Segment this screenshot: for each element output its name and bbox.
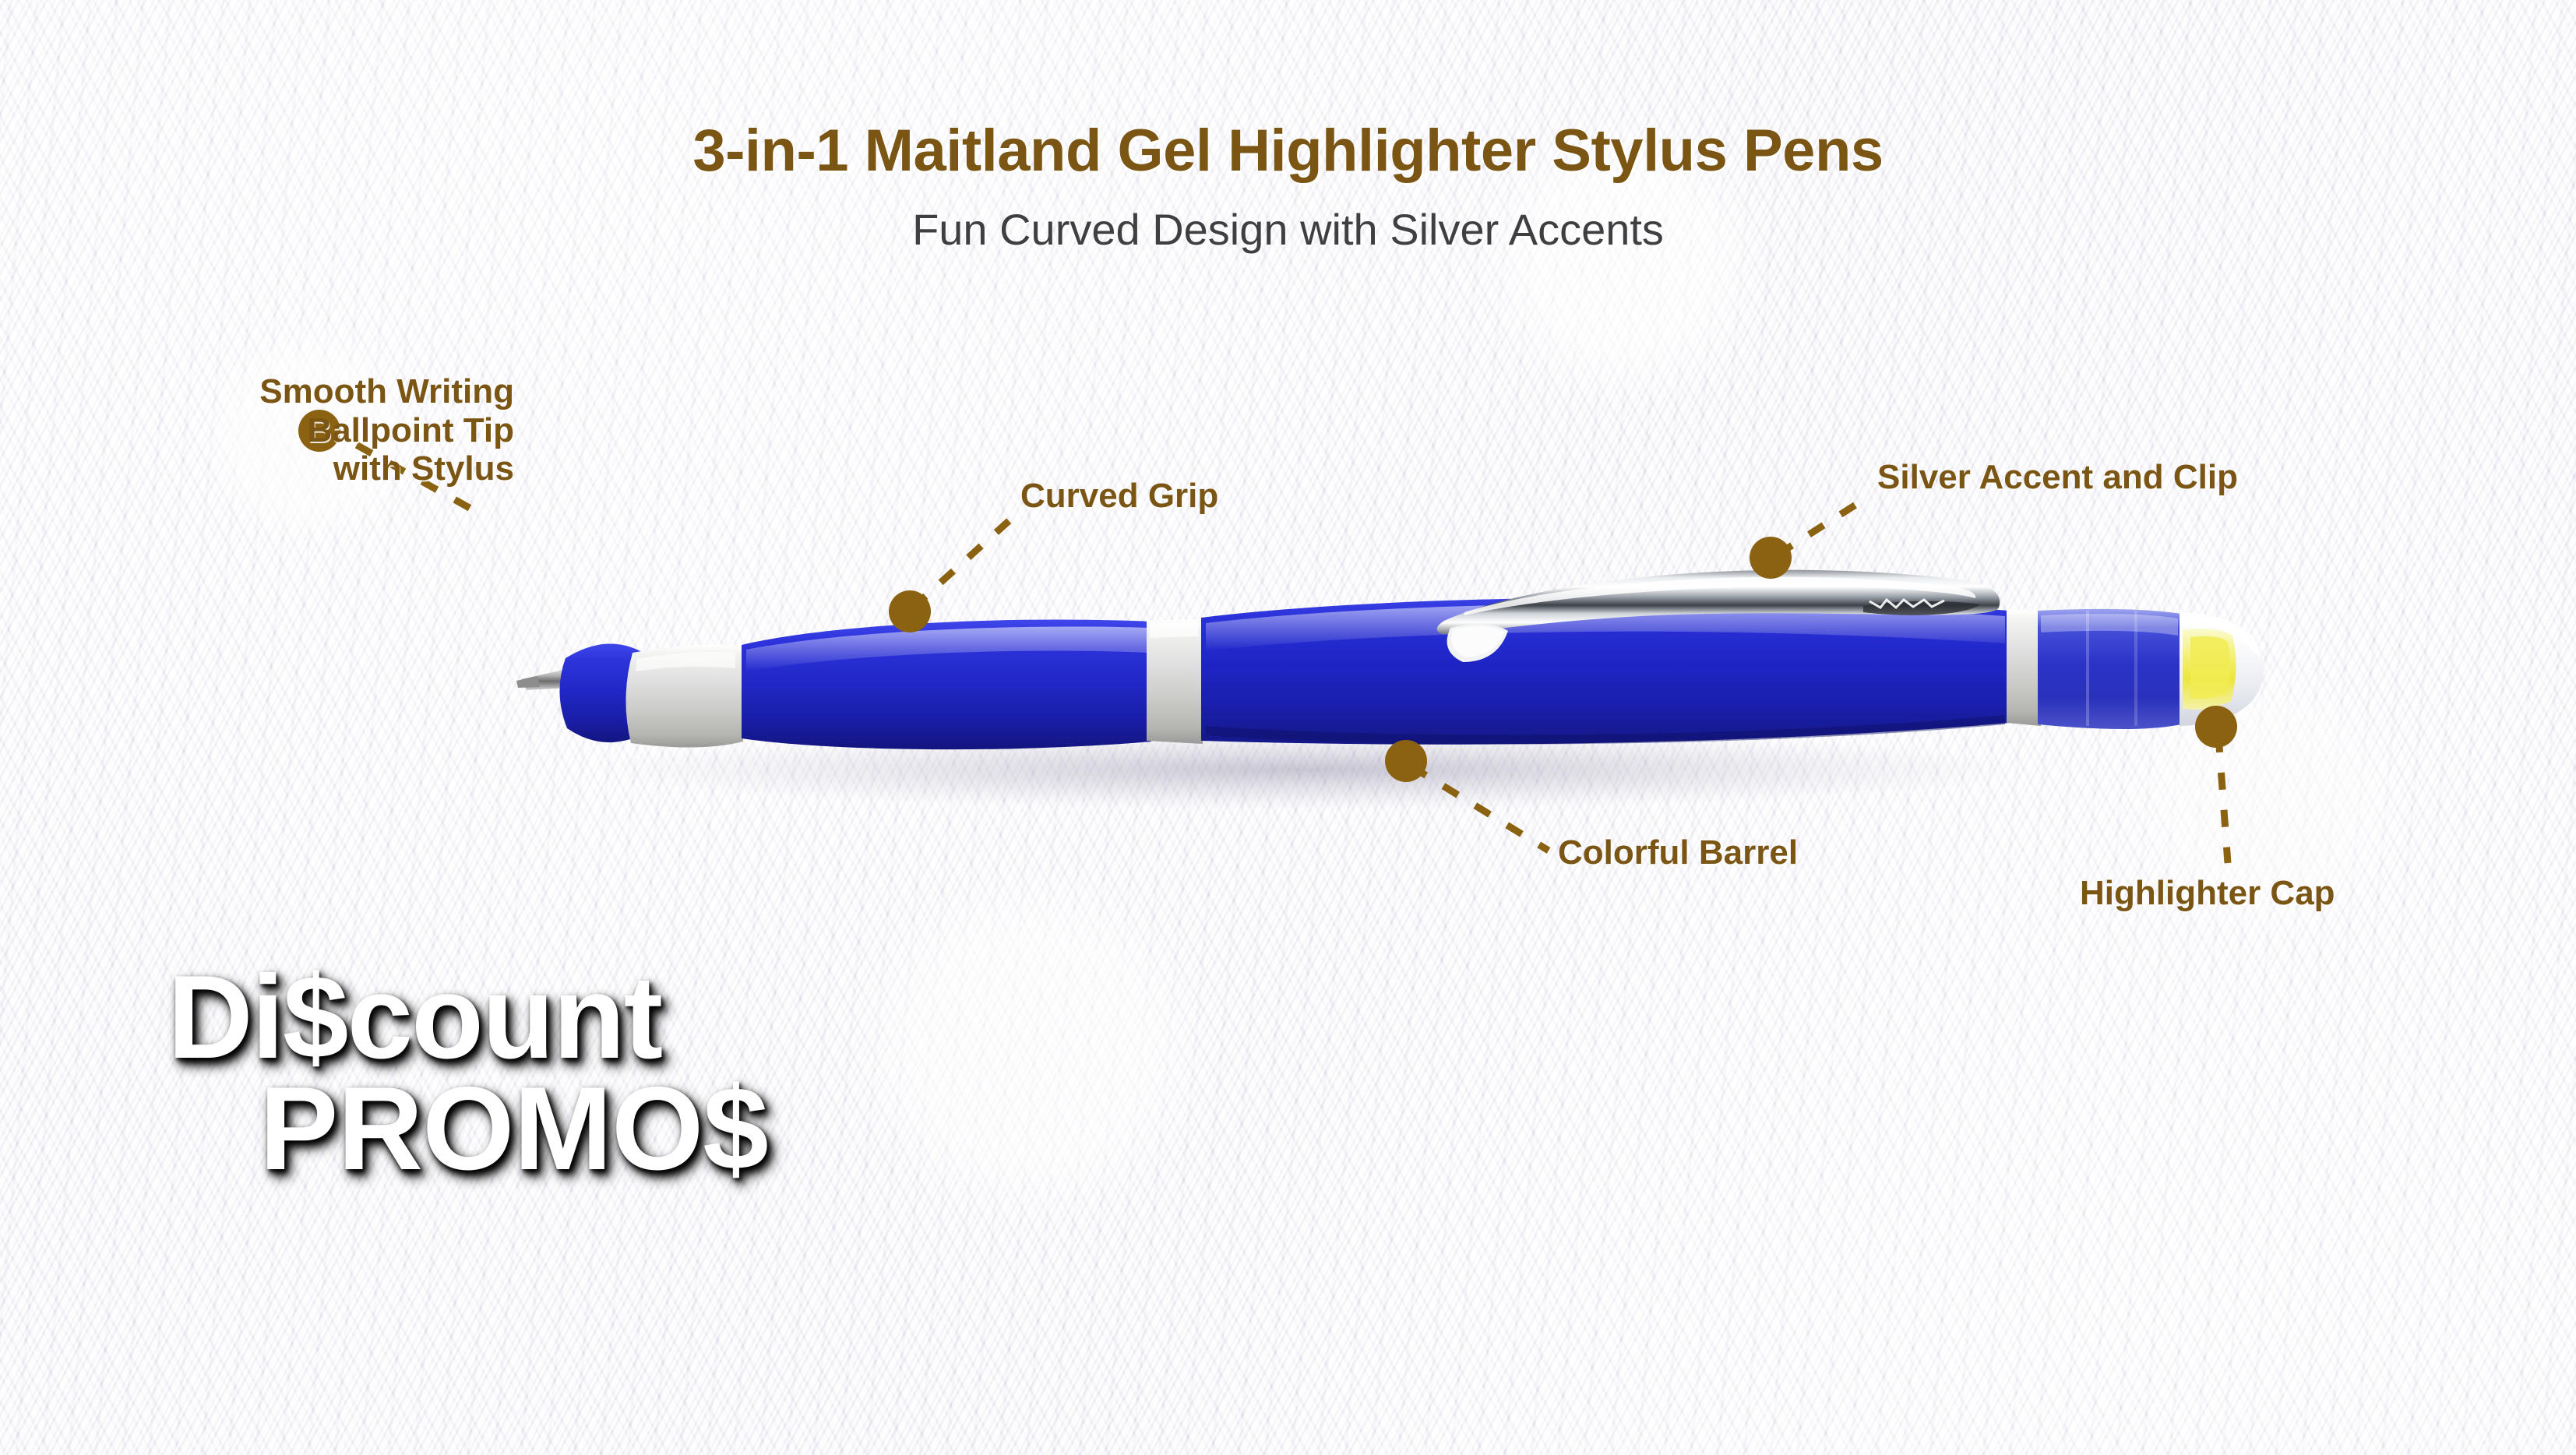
- brand-logo-line-2: PROMO$: [167, 1073, 1024, 1185]
- callout-dot-clip: [1750, 537, 1792, 579]
- callout-label-curved-grip: Curved Grip: [1020, 477, 1218, 516]
- leader-line-barrel: [1411, 766, 1549, 851]
- callout-dot-cap: [2195, 706, 2237, 748]
- brand-logo-line-1: Di$count: [167, 962, 1024, 1073]
- leader-line-clip: [1778, 497, 1868, 555]
- callout-label-colorful-barrel: Colorful Barrel: [1558, 833, 1798, 872]
- ballpoint-tip-stylus: [516, 643, 658, 742]
- highlighter-cap: [2038, 609, 2264, 729]
- page-subtitle: Fun Curved Design with Silver Accents: [0, 204, 2576, 255]
- callout-dot-barrel: [1385, 740, 1427, 782]
- callout-label-silver-clip: Silver Accent and Clip: [1877, 458, 2238, 497]
- callout-dot-grip: [889, 590, 931, 632]
- callout-label-ballpoint-tip: Smooth Writing Ballpoint Tip with Stylus: [93, 372, 514, 488]
- silver-clip: [1437, 570, 2000, 662]
- silver-cap-ring: [2007, 609, 2041, 726]
- page-title: 3-in-1 Maitland Gel Highlighter Stylus P…: [0, 117, 2576, 185]
- curved-grip: [742, 620, 1151, 750]
- leader-line-grip: [913, 520, 1010, 608]
- silver-nose-cone: [625, 644, 743, 747]
- callout-label-highlighter-cap: Highlighter Cap: [2080, 874, 2335, 913]
- infographic-canvas: 3-in-1 Maitland Gel Highlighter Stylus P…: [0, 0, 2576, 1455]
- colorful-barrel: [1201, 597, 2010, 744]
- brand-logo: Di$count PROMO$: [167, 962, 1024, 1185]
- silver-center-ring: [1147, 619, 1203, 744]
- leader-line-cap: [2218, 735, 2228, 863]
- product-shadow: [592, 729, 2025, 810]
